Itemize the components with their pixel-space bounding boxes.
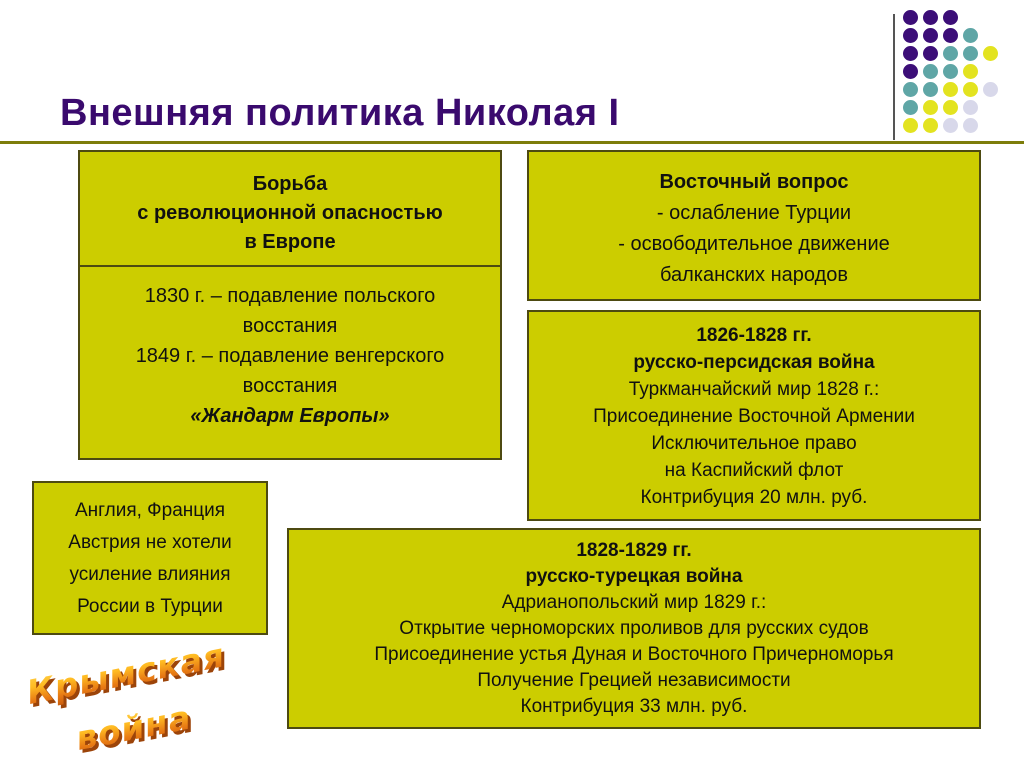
dot-purple-icon xyxy=(923,46,938,61)
text-line: Туркманчайский мир 1828 г.: xyxy=(535,376,973,403)
text-line: Присоединение устья Дуная и Восточного П… xyxy=(295,642,973,668)
dot-matrix-decoration xyxy=(903,10,1007,142)
dot-teal-icon xyxy=(903,100,918,115)
text-line: Австрия не хотели xyxy=(38,527,262,559)
dot-purple-icon xyxy=(903,64,918,79)
box-struggle-header: Борьба с революционной опасностью в Евро… xyxy=(80,152,500,267)
text-line: восстания xyxy=(86,371,494,401)
wordart-line1: Крымская xyxy=(24,635,229,712)
dot-lavender-icon xyxy=(943,118,958,133)
dot-teal-icon xyxy=(943,46,958,61)
text-line: - освободительное движение xyxy=(535,229,973,260)
box-eastern-question: Восточный вопрос - ослабление Турции - о… xyxy=(527,150,981,301)
dot-purple-icon xyxy=(903,46,918,61)
text-line: Контрибуция 33 млн. руб. xyxy=(295,694,973,720)
box-russo-turkish-war: 1828-1829 гг. русско-турецкая война Адри… xyxy=(287,528,981,729)
dot-yellow-icon xyxy=(963,82,978,97)
dot-row xyxy=(903,64,1007,82)
dot-row xyxy=(903,46,1007,64)
text-line: 1830 г. – подавление польского xyxy=(86,281,494,311)
dot-lavender-icon xyxy=(983,82,998,97)
text-line-heading: русско-турецкая война xyxy=(295,564,973,590)
dot-teal-icon xyxy=(923,82,938,97)
dot-row xyxy=(903,10,1007,28)
dot-teal-icon xyxy=(963,46,978,61)
text-line: России в Турции xyxy=(38,591,262,623)
text-line-heading: русско-персидская война xyxy=(535,349,973,376)
dot-yellow-icon xyxy=(903,118,918,133)
box-russo-persian-war: 1826-1828 гг. русско-персидская война Ту… xyxy=(527,310,981,521)
dot-lavender-icon xyxy=(963,118,978,133)
dot-yellow-icon xyxy=(923,118,938,133)
dot-purple-icon xyxy=(923,10,938,25)
wordart-crimean-war: Крымская Крымская война война xyxy=(28,640,288,750)
text-line: в Европе xyxy=(86,228,494,257)
text-line: Контрибуция 20 млн. руб. xyxy=(535,484,973,511)
text-line: на Каспийский флот xyxy=(535,457,973,484)
dot-teal-icon xyxy=(923,64,938,79)
text-line: Присоединение Восточной Армении xyxy=(535,403,973,430)
dot-row xyxy=(903,118,1007,136)
dot-teal-icon xyxy=(943,64,958,79)
text-line: Открытие черноморских проливов для русск… xyxy=(295,616,973,642)
text-line: усиление влияния xyxy=(38,559,262,591)
dot-yellow-icon xyxy=(943,100,958,115)
box-struggle-revolution: Борьба с революционной опасностью в Евро… xyxy=(78,150,502,460)
text-line-heading: 1828-1829 гг. xyxy=(295,538,973,564)
text-line: Борьба xyxy=(86,170,494,199)
dot-yellow-icon xyxy=(963,64,978,79)
dot-yellow-icon xyxy=(983,46,998,61)
text-line: - ослабление Турции xyxy=(535,198,973,229)
dot-purple-icon xyxy=(943,28,958,43)
title-underline-divider xyxy=(0,141,1024,144)
text-line: с революционной опасностью xyxy=(86,199,494,228)
box-great-powers: Англия, Франция Австрия не хотели усилен… xyxy=(32,481,268,635)
text-line: восстания xyxy=(86,311,494,341)
text-line-heading: Восточный вопрос xyxy=(535,167,973,198)
dot-teal-icon xyxy=(903,82,918,97)
text-line-emphasis: «Жандарм Европы» xyxy=(86,401,494,431)
dot-yellow-icon xyxy=(923,100,938,115)
text-line: Адрианопольский мир 1829 г.: xyxy=(295,590,973,616)
dot-purple-icon xyxy=(903,28,918,43)
text-line: Получение Грецией независимости xyxy=(295,668,973,694)
dot-row xyxy=(903,82,1007,100)
dot-teal-icon xyxy=(963,28,978,43)
dot-yellow-icon xyxy=(943,82,958,97)
dot-purple-icon xyxy=(903,10,918,25)
text-line: балканских народов xyxy=(535,260,973,291)
dot-purple-icon xyxy=(943,10,958,25)
dot-lavender-icon xyxy=(963,100,978,115)
text-line: 1849 г. – подавление венгерского xyxy=(86,341,494,371)
text-line: Англия, Франция xyxy=(38,495,262,527)
vertical-divider-line xyxy=(893,14,895,140)
dot-row xyxy=(903,28,1007,46)
dot-purple-icon xyxy=(923,28,938,43)
text-line: Исключительное право xyxy=(535,430,973,457)
page-title: Внешняя политика Николая I xyxy=(60,92,620,135)
text-line-heading: 1826-1828 гг. xyxy=(535,322,973,349)
dot-row xyxy=(903,100,1007,118)
box-struggle-body: 1830 г. – подавление польского восстания… xyxy=(80,267,500,439)
